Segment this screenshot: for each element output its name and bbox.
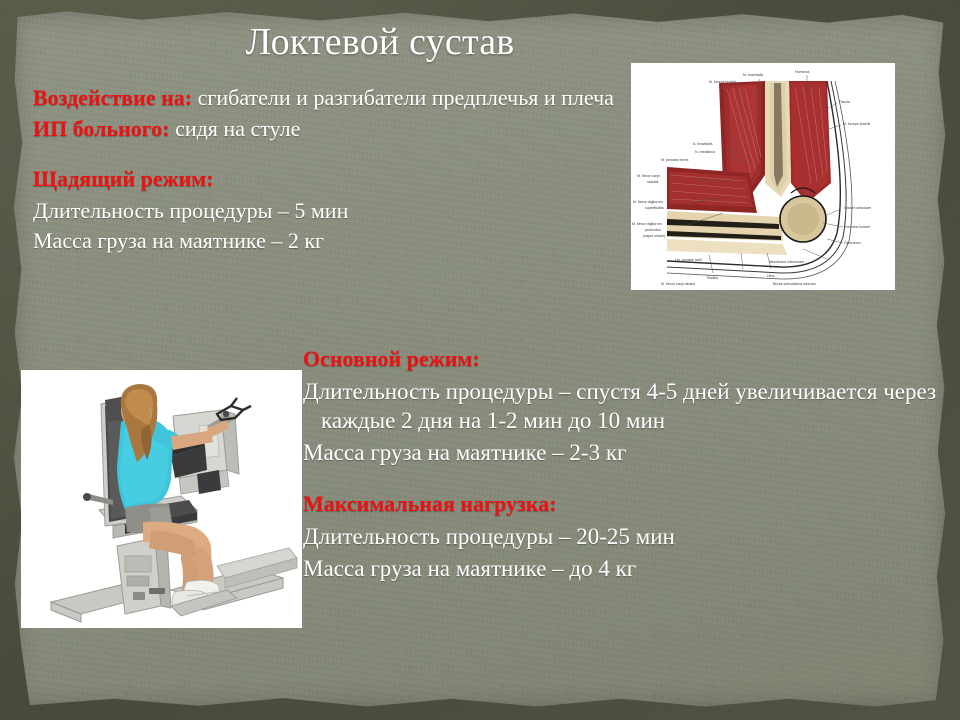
gentle-mode-item: Масса груза на маятнике – 2 кг (33, 227, 618, 256)
svg-text:A. brachialis: A. brachialis (693, 142, 713, 146)
svg-text:Membrana interossea: Membrana interossea (769, 260, 804, 264)
position-value: сидя на стуле (170, 116, 301, 141)
svg-text:M. flexor digitorum: M. flexor digitorum (632, 222, 662, 226)
slide-canvas: Локтевой сустав (0, 0, 960, 720)
svg-text:radialis: radialis (647, 180, 659, 184)
svg-text:superficialis: superficialis (645, 206, 664, 210)
elbow-anatomy-svg: M. brachialis M. biceps brachii Humerus … (631, 63, 895, 290)
page-title: Локтевой сустав (60, 22, 700, 64)
svg-text:M. flexor carpi ulnaris: M. flexor carpi ulnaris (661, 282, 695, 286)
position-label: ИП больного: (33, 116, 170, 141)
svg-text:M. pronator teres: M. pronator teres (661, 158, 689, 162)
svg-text:Humerus: Humerus (795, 70, 810, 74)
svg-text:N. medianus: N. medianus (695, 150, 715, 154)
svg-text:Trochlea humeri: Trochlea humeri (844, 225, 870, 229)
left-text-column: Воздействие на: сгибатели и разгибатели … (33, 84, 618, 258)
svg-text:M. flexor carpi: M. flexor carpi (637, 174, 660, 178)
position-line: ИП больного: сидя на стуле (33, 115, 618, 144)
svg-text:M. triceps brachii: M. triceps brachii (843, 122, 870, 126)
svg-text:M. flexor digitorum: M. flexor digitorum (633, 200, 663, 204)
spacer (303, 470, 943, 490)
spacer (33, 145, 618, 165)
svg-text:M. brachialis: M. brachialis (743, 73, 763, 77)
svg-text:Olecranon: Olecranon (844, 241, 861, 245)
svg-text:M. biceps brachii: M. biceps brachii (709, 80, 736, 84)
max-load-item: Масса груза на маятнике – до 4 кг (303, 554, 943, 584)
svg-text:(caput ulnare): (caput ulnare) (643, 234, 665, 238)
effect-line: Воздействие на: сгибатели и разгибатели … (33, 84, 618, 113)
svg-text:Cavum articulare: Cavum articulare (844, 206, 871, 210)
effect-label: Воздействие на: (33, 85, 192, 110)
svg-text:Fascia: Fascia (839, 100, 850, 104)
mechanotherapy-machine-image (21, 370, 302, 628)
effect-value: сгибатели и разгибатели предплечья и пле… (192, 85, 614, 110)
svg-text:Radius: Radius (707, 276, 718, 280)
mechanotherapy-svg (21, 370, 302, 628)
svg-text:profundus: profundus (645, 228, 661, 232)
max-load-heading: Максимальная нагрузка: (303, 490, 943, 519)
max-load-item: Длительность процедуры – 20-25 мин (303, 522, 943, 552)
elbow-anatomy-image: M. brachialis M. biceps brachii Humerus … (631, 63, 895, 290)
main-mode-heading: Основной режим: (303, 345, 943, 374)
main-mode-item: Длительность процедуры – спустя 4-5 дней… (303, 377, 943, 437)
main-mode-item: Масса груза на маятнике – 2-3 кг (303, 438, 943, 468)
svg-text:Lig. anulare radii: Lig. anulare radii (675, 258, 702, 262)
svg-text:Bursa subcutanea olecrani: Bursa subcutanea olecrani (773, 282, 816, 286)
right-text-column: Основной режим: Длительность процедуры –… (303, 345, 943, 586)
svg-text:Ulna: Ulna (767, 274, 774, 278)
gentle-mode-item: Длительность процедуры – 5 мин (33, 197, 618, 226)
gentle-mode-heading: Щадящий режим: (33, 165, 618, 194)
